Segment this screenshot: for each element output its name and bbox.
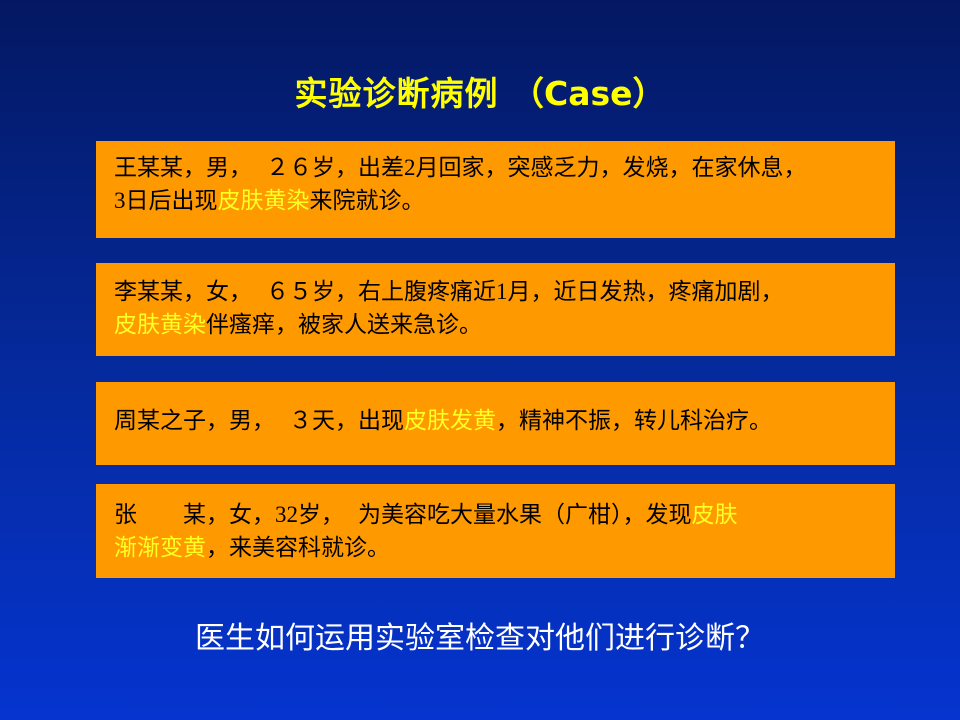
- case-1-line-2: 3日后出现皮肤黄染来院就诊。: [114, 184, 885, 217]
- case-3-highlight: 皮肤发黄: [404, 408, 496, 433]
- case-box-1: 王某某，男，２６岁，出差2月回家，突感乏力，发烧，在家休息， 3日后出现皮肤黄染…: [96, 141, 895, 238]
- case-box-2: 李某某，女，６５岁，右上腹疼痛近1月，近日发热，疼痛加剧， 皮肤黄染伴瘙痒，被家…: [96, 263, 895, 356]
- case-4-line-2-part-b: ，来美容科就诊。: [206, 535, 390, 560]
- case-2-highlight: 皮肤黄染: [114, 312, 206, 337]
- case-box-3: 周某之子，男，３天，出现皮肤发黄，精神不振，转儿科治疗。: [96, 382, 895, 465]
- case-4-line-2: 渐渐变黄，来美容科就诊。: [114, 531, 885, 564]
- case-1-line-1: 王某某，男，２６岁，出差2月回家，突感乏力，发烧，在家休息，: [114, 151, 885, 184]
- page-title-cn: 实验诊断病例: [294, 74, 498, 113]
- case-3-line-1-part-b: ３天，出现: [289, 408, 404, 433]
- page-title-separator: [498, 74, 511, 113]
- case-2-line-1-part-a: 李某某，女，: [114, 279, 252, 304]
- case-3-line-1-part-c: ，精神不振，转儿科治疗。: [496, 408, 772, 433]
- case-1-line-1-part-a: 王某某，男，: [114, 155, 252, 180]
- case-3-line-1: 周某之子，男，３天，出现皮肤发黄，精神不振，转儿科治疗。: [114, 404, 885, 437]
- case-1-line-2-part-b: 来院就诊。: [310, 188, 425, 213]
- closing-question: 医生如何运用实验室检查对他们进行诊断？: [0, 618, 960, 660]
- case-1-line-1-part-b: ２６岁，出差2月回家，突感乏力，发烧，在家休息，: [266, 155, 807, 180]
- case-3-line-1-part-a: 周某之子，男，: [114, 408, 275, 433]
- case-box-4: 张某，女，32岁，为美容吃大量水果（广柑），发现皮肤 渐渐变黄，来美容科就诊。: [96, 484, 895, 578]
- case-1-highlight: 皮肤黄染: [218, 188, 310, 213]
- case-4-highlight-2: 渐渐变黄: [114, 535, 206, 560]
- case-2-line-1: 李某某，女，６５岁，右上腹疼痛近1月，近日发热，疼痛加剧，: [114, 275, 885, 308]
- case-4-highlight-1: 皮肤: [692, 502, 738, 527]
- case-4-line-1-part-c: 为美容吃大量水果（广柑），发现: [358, 502, 692, 527]
- case-4-line-1-part-a: 张: [114, 502, 137, 527]
- case-2-line-2-part-b: 伴瘙痒，被家人送来急诊。: [206, 312, 482, 337]
- page-title-en: （Case）: [511, 74, 666, 113]
- case-4-line-1-part-b: 某，女，32岁，: [183, 502, 344, 527]
- case-4-line-1: 张某，女，32岁，为美容吃大量水果（广柑），发现皮肤: [114, 498, 885, 531]
- page-title: 实验诊断病例 （Case）: [0, 74, 960, 114]
- case-1-line-2-part-a: 3日后出现: [114, 188, 218, 213]
- case-2-line-1-part-b: ６５岁，右上腹疼痛近1月，近日发热，疼痛加剧，: [266, 279, 784, 304]
- case-2-line-2: 皮肤黄染伴瘙痒，被家人送来急诊。: [114, 308, 885, 341]
- slide-canvas: 实验诊断病例 （Case） 王某某，男，２６岁，出差2月回家，突感乏力，发烧，在…: [0, 0, 960, 720]
